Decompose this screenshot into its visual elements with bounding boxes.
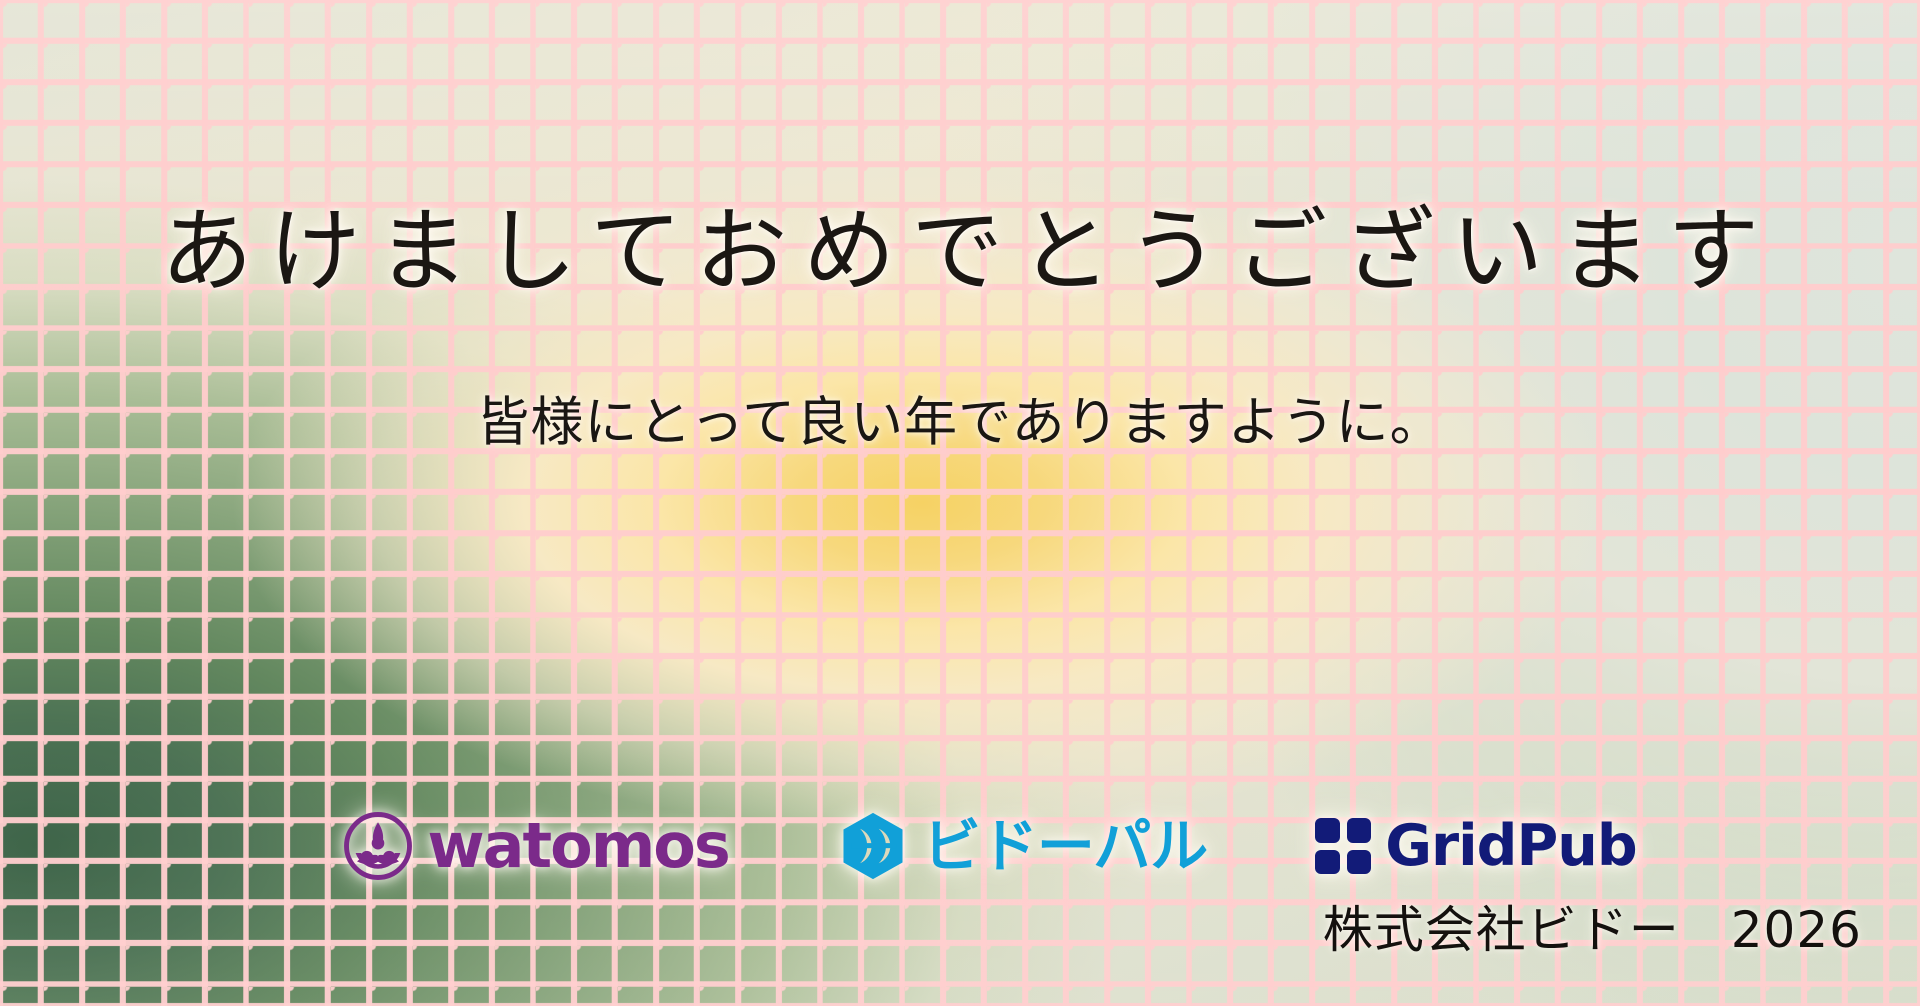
- greeting-subhead: 皆様にとって良い年でありますように。: [0, 396, 1920, 449]
- logo-gridpub-text: GridPub: [1385, 818, 1636, 875]
- logo-gridpub[interactable]: GridPub: [1315, 818, 1636, 875]
- new-year-greeting-card: あけましておめでとうございます 皆様にとって良い年でありますように。 watom…: [0, 0, 1920, 1006]
- company-footer: 株式会社ビドー 2026: [1323, 905, 1862, 955]
- greeting-headline: あけましておめでとうございます: [0, 206, 1920, 298]
- hexagon-crescent-icon: [837, 810, 909, 882]
- grid-cell: [1347, 818, 1372, 843]
- grid-cell: [1315, 818, 1340, 843]
- grid-cell: [1315, 850, 1340, 875]
- grid-2x2-icon: [1315, 818, 1371, 874]
- logo-watomos[interactable]: watomos: [343, 811, 728, 881]
- logo-bidopal-text: ビドーパル: [923, 817, 1207, 875]
- logo-watomos-text: watomos: [427, 815, 728, 877]
- trefoil-circle-icon: [343, 811, 413, 881]
- logo-row: watomos ビドーパル GridPub: [0, 800, 1920, 892]
- grid-cell: [1347, 850, 1372, 875]
- logo-bidopal[interactable]: ビドーパル: [837, 810, 1207, 882]
